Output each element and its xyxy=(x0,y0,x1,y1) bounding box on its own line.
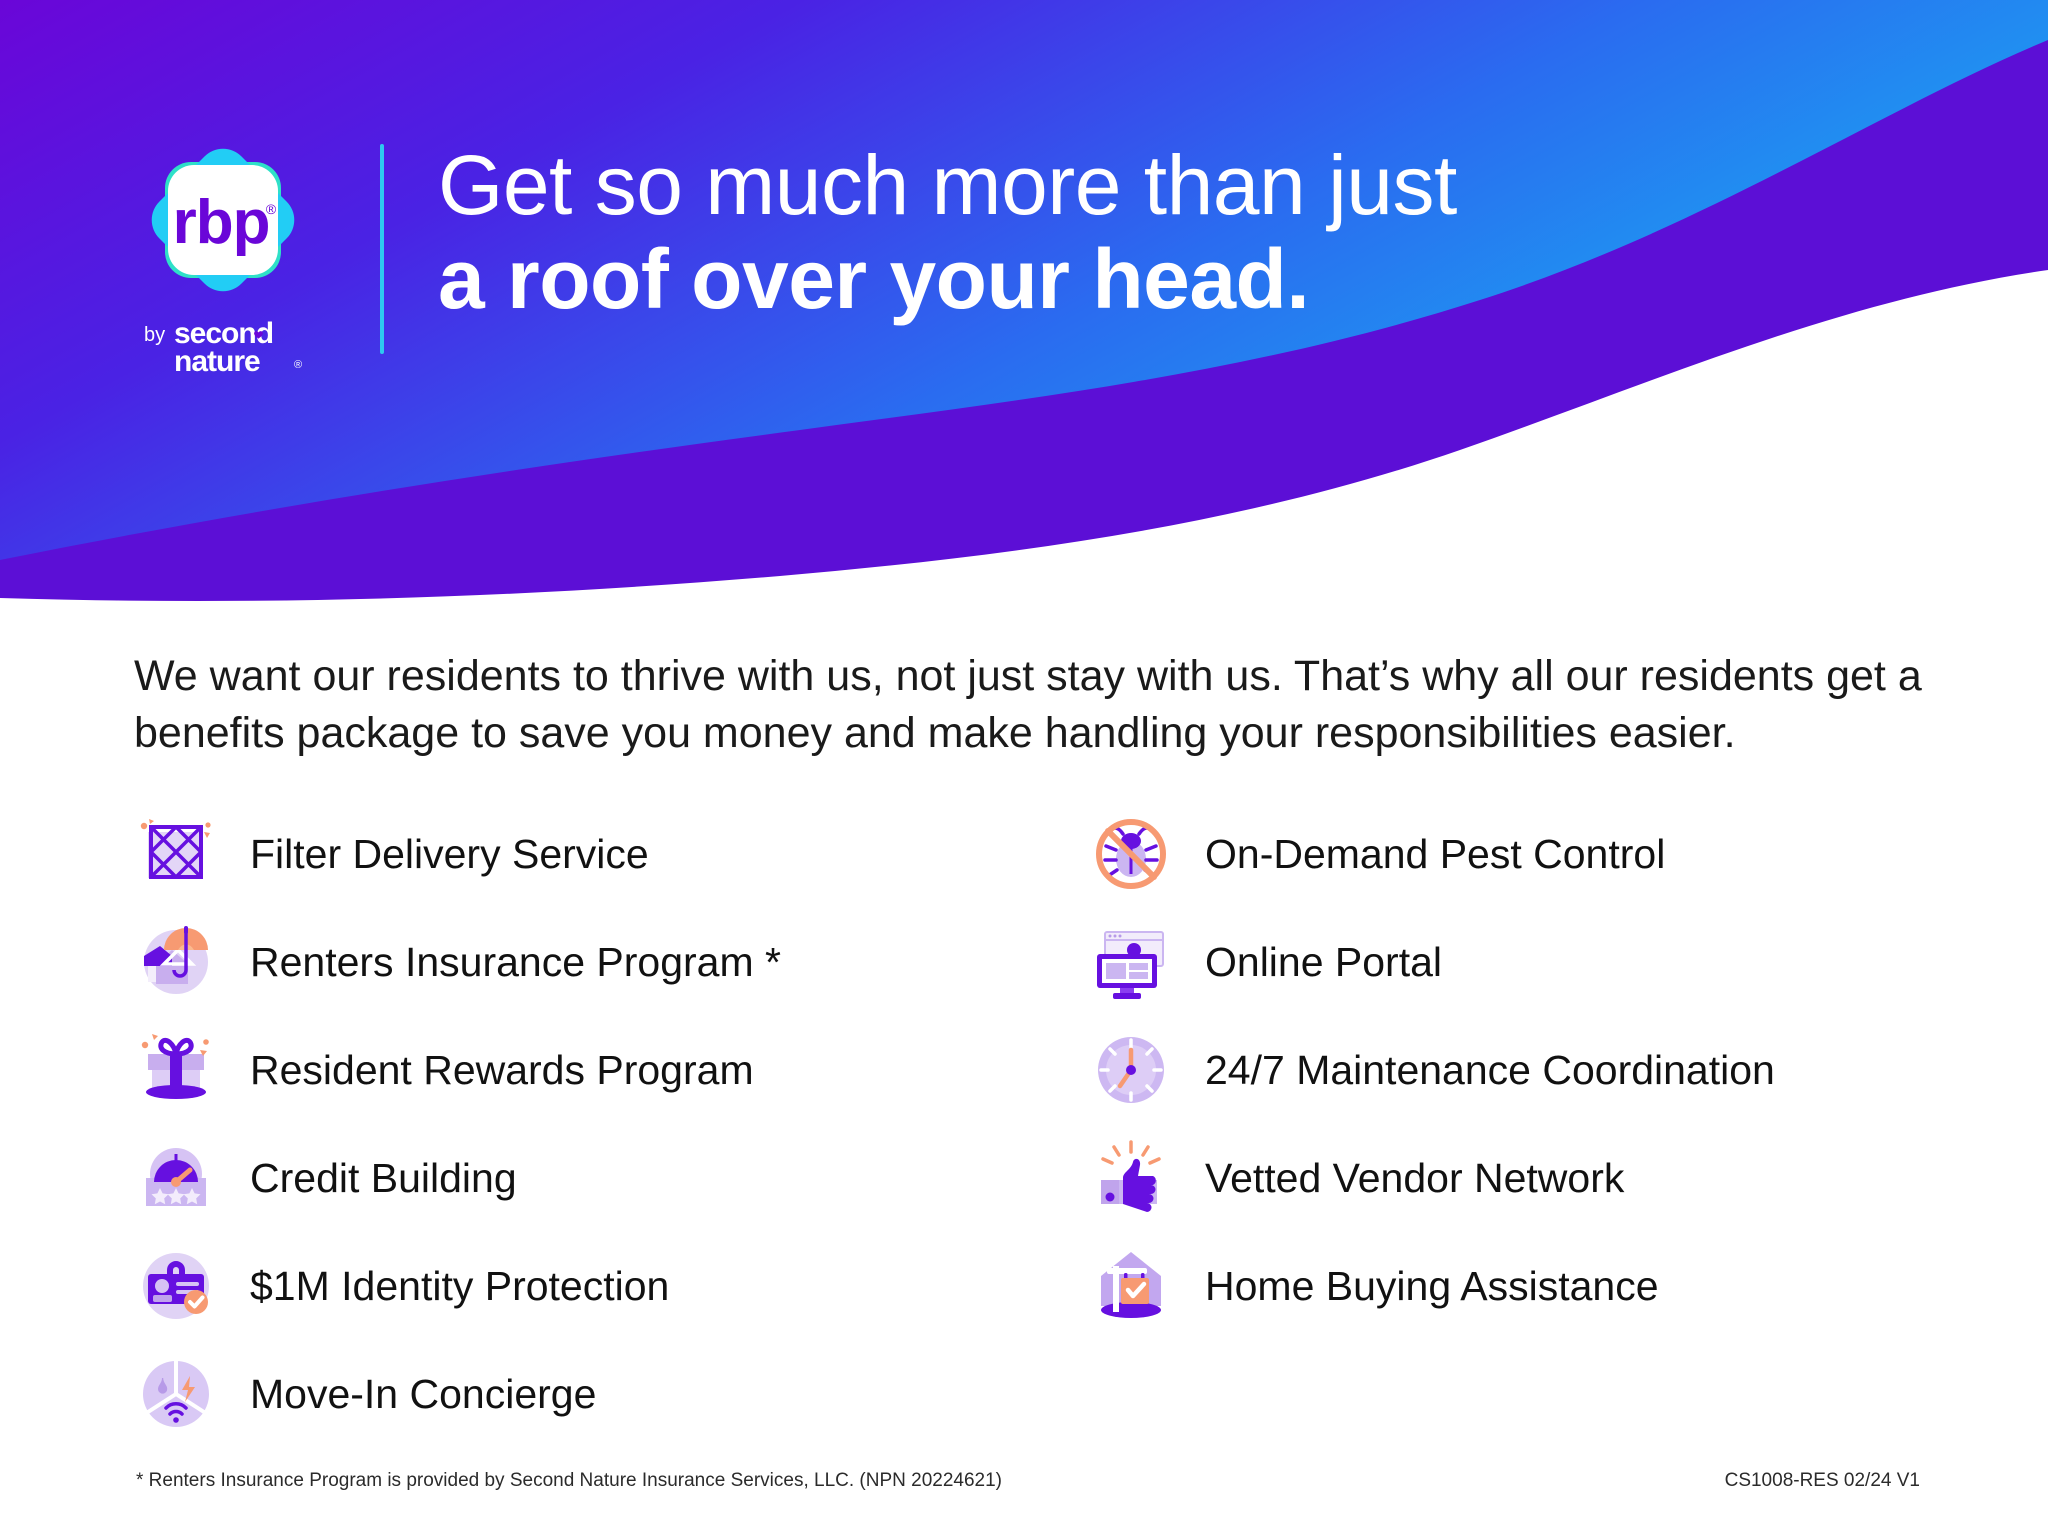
benefit-label: Vetted Vendor Network xyxy=(1205,1155,1624,1202)
credit-gauge-icon xyxy=(134,1136,218,1220)
benefit-item: Renters Insurance Program * xyxy=(134,908,1089,1016)
benefit-label: 24/7 Maintenance Coordination xyxy=(1205,1047,1775,1094)
headline-line-1: Get so much more than just xyxy=(438,140,1457,231)
no-pest-icon xyxy=(1089,812,1173,896)
benefit-item: Online Portal xyxy=(1089,908,1934,1016)
svg-text:®: ® xyxy=(294,359,302,371)
benefit-label: Filter Delivery Service xyxy=(250,831,649,878)
svg-text:by: by xyxy=(144,324,165,346)
benefit-item: 24/7 Maintenance Coordination xyxy=(1089,1016,1934,1124)
benefit-item: On-Demand Pest Control xyxy=(1089,800,1934,908)
house-sold-sign-icon xyxy=(1089,1244,1173,1328)
benefit-label: Credit Building xyxy=(250,1155,517,1202)
benefit-item: Filter Delivery Service xyxy=(134,800,1089,908)
benefits-column-left: Filter Delivery Service Renters Insu xyxy=(134,800,1089,1448)
benefit-item: Vetted Vendor Network xyxy=(1089,1124,1934,1232)
page-title: Get so much more than just a roof over y… xyxy=(438,140,1457,328)
umbrella-house-icon xyxy=(134,920,218,1004)
thumbs-up-icon xyxy=(1089,1136,1173,1220)
clock-icon xyxy=(1089,1028,1173,1112)
benefit-label: On-Demand Pest Control xyxy=(1205,831,1665,878)
footer-document-code: CS1008-RES 02/24 V1 xyxy=(1725,1470,1920,1492)
utilities-wheel-icon xyxy=(134,1352,218,1436)
svg-text:rbp: rbp xyxy=(173,188,270,257)
benefit-item: Move-In Concierge xyxy=(134,1340,1089,1448)
benefit-label: $1M Identity Protection xyxy=(250,1263,669,1310)
benefit-label: Home Buying Assistance xyxy=(1205,1263,1659,1310)
second-nature-byline-icon: by second nature ® xyxy=(138,314,308,376)
intro-paragraph: We want our residents to thrive with us,… xyxy=(134,648,1924,762)
benefit-label: Resident Rewards Program xyxy=(250,1047,754,1094)
benefit-item: $1M Identity Protection xyxy=(134,1232,1089,1340)
footer-disclaimer: * Renters Insurance Program is provided … xyxy=(136,1470,1002,1492)
svg-text:nature: nature xyxy=(174,345,260,376)
rbp-logo-icon: rbp ® xyxy=(143,140,303,300)
benefits-column-right: On-Demand Pest Control xyxy=(1089,800,1934,1448)
id-badge-check-icon xyxy=(134,1244,218,1328)
filter-icon xyxy=(134,812,218,896)
svg-text:®: ® xyxy=(266,201,277,217)
monitor-portal-icon xyxy=(1089,920,1173,1004)
benefit-item: Home Buying Assistance xyxy=(1089,1232,1934,1340)
benefit-label: Renters Insurance Program * xyxy=(250,939,781,986)
header-divider xyxy=(380,144,384,354)
headline-line-2: a roof over your head. xyxy=(438,231,1457,328)
benefit-label: Online Portal xyxy=(1205,939,1442,986)
benefit-item: Resident Rewards Program xyxy=(134,1016,1089,1124)
gift-icon xyxy=(134,1028,218,1112)
brand-logo: rbp ® by second nature ® xyxy=(128,140,318,376)
benefit-item: Credit Building xyxy=(134,1124,1089,1232)
benefit-label: Move-In Concierge xyxy=(250,1371,596,1418)
header-banner: rbp ® by second nature ® Get so much mor… xyxy=(0,0,2048,620)
benefits-list: Filter Delivery Service Renters Insu xyxy=(134,800,1934,1448)
